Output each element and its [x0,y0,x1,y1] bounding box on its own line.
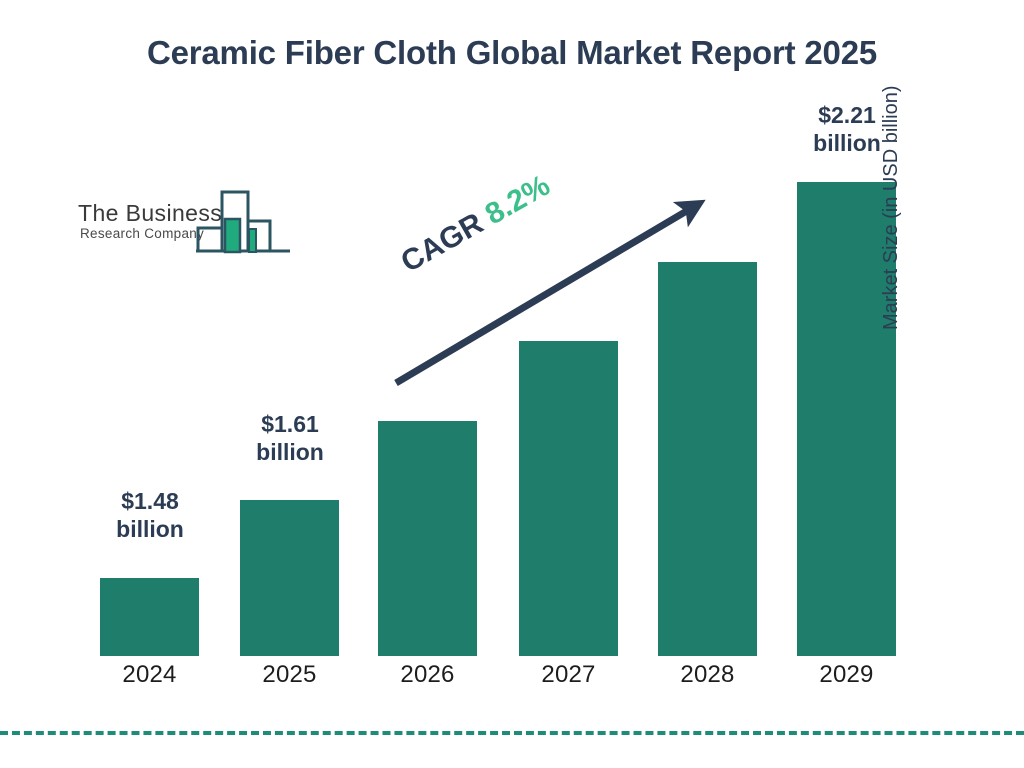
cagr-annotation: CAGR 8.2% [396,169,556,280]
bar-2028[interactable] [658,262,757,656]
bar-2027[interactable] [519,341,618,656]
x-tick-2029: 2029 [797,661,896,689]
x-tick-2028: 2028 [658,661,757,689]
x-tick-2027: 2027 [519,661,618,689]
bar-chart-plot: $1.48 billion $1.61 billion $2.21 billio… [0,0,1024,768]
cagr-value: 8.2% [480,169,556,231]
bar-2024[interactable] [100,578,199,656]
x-tick-2024: 2024 [100,661,199,689]
footer-divider [0,731,1024,735]
x-tick-2025: 2025 [240,661,339,689]
x-tick-2026: 2026 [378,661,477,689]
bar-value-2024: $1.48 billion [85,487,215,543]
y-axis-title: Market Size (in USD billion) [880,10,903,330]
cagr-label: CAGR [396,207,489,279]
bar-2026[interactable] [378,421,477,656]
bar-value-2025: $1.61 billion [225,410,355,466]
bar-2025[interactable] [240,500,339,656]
chart-page: Ceramic Fiber Cloth Global Market Report… [0,0,1024,768]
